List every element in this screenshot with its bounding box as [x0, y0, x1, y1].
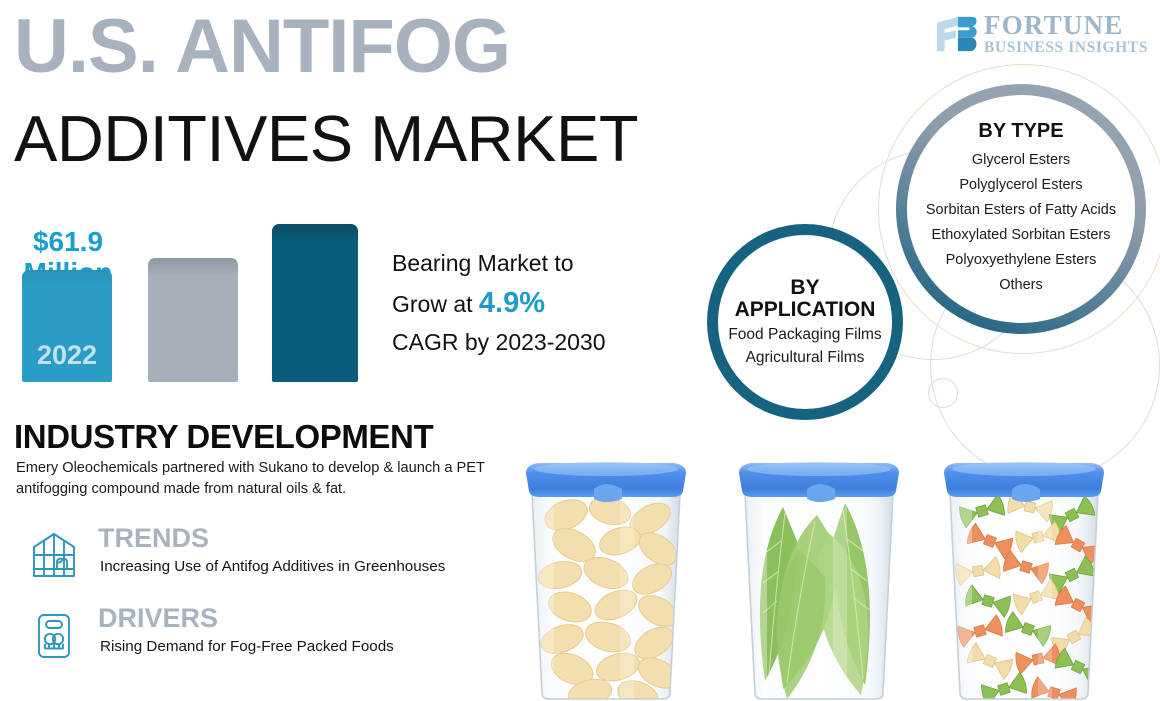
- logo-secondary-text: BUSINESS INSIGHTS: [984, 40, 1148, 56]
- industry-development-body: Emery Oleochemicals partnered with Sukan…: [16, 458, 486, 500]
- drivers-text: Rising Demand for Fog-Free Packed Foods: [100, 638, 394, 655]
- bar-forecast-year: [272, 224, 358, 382]
- bar-mid: [148, 258, 238, 382]
- market-value: $61.9: [33, 226, 103, 257]
- page-title-line1: U.S. ANTIFOG: [14, 11, 510, 83]
- by-type-item-3: Ethoxylated Sorbitan Esters: [932, 223, 1111, 248]
- cagr-line-1: Bearing Market to: [392, 246, 652, 281]
- trends-heading: TRENDS: [98, 523, 209, 554]
- by-application-title-line2: APPLICATION: [735, 299, 876, 321]
- segment-circle-by-application: BY APPLICATION Food Packaging Films Agri…: [707, 224, 903, 420]
- decorative-ring-small: [928, 378, 958, 408]
- cagr-value: 4.9%: [479, 287, 545, 319]
- brand-logo: FORTUNE BUSINESS INSIGHTS: [935, 12, 1148, 56]
- drivers-heading: DRIVERS: [98, 603, 218, 634]
- by-application-item-0: Food Packaging Films: [728, 326, 881, 344]
- logo-primary-text: FORTUNE: [984, 12, 1148, 39]
- by-type-item-4: Polyoxyethylene Esters: [946, 248, 1097, 273]
- page-title-line2: ADDITIVES MARKET: [14, 108, 638, 170]
- food-package-icon: [26, 608, 82, 664]
- cagr-line-3: CAGR by 2023-2030: [392, 325, 652, 360]
- tricolor-farfalle-container: [930, 449, 1118, 701]
- cagr-block: Bearing Market to Grow at 4.9% CAGR by 2…: [392, 246, 652, 360]
- trends-text: Increasing Use of Antifog Additives in G…: [100, 558, 445, 575]
- greenhouse-icon: [26, 528, 82, 584]
- cagr-prefix: Grow at: [392, 291, 479, 317]
- by-type-item-1: Polyglycerol Esters: [959, 173, 1082, 198]
- by-type-title: BY TYPE: [978, 120, 1063, 143]
- base-year-label: 2022: [22, 340, 112, 371]
- industry-development-heading: INDUSTRY DEVELOPMENT: [14, 418, 433, 456]
- fortune-fb-monogram-icon: [935, 15, 977, 53]
- by-type-item-2: Sorbitan Esters of Fatty Acids: [926, 198, 1116, 223]
- cagr-line-2: Grow at 4.9%: [392, 281, 652, 325]
- infographic-canvas: FORTUNE BUSINESS INSIGHTS U.S. ANTIFOG A…: [0, 0, 1160, 701]
- green-leaves-container: [725, 449, 913, 701]
- pasta-shells-container: [512, 449, 700, 701]
- by-application-item-1: Agricultural Films: [746, 349, 865, 367]
- by-type-item-5: Others: [999, 273, 1043, 298]
- segment-circle-by-type: BY TYPE Glycerol Esters Polyglycerol Est…: [896, 84, 1146, 334]
- by-application-title-line1: BY: [790, 277, 819, 299]
- by-type-item-0: Glycerol Esters: [972, 148, 1070, 173]
